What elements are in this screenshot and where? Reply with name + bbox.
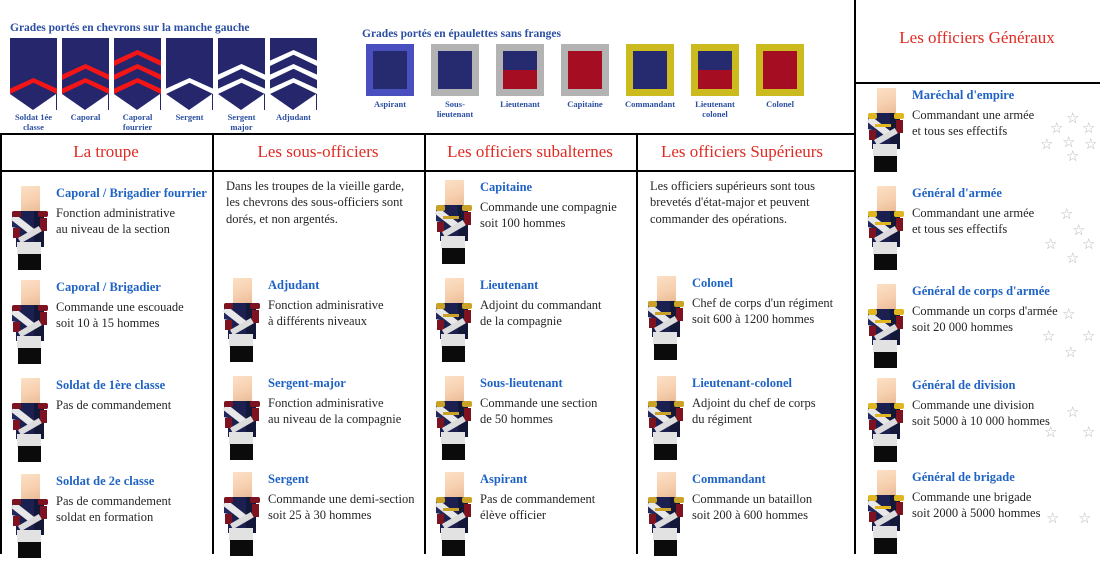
- rank-name: Commandant: [692, 472, 812, 487]
- patch-notch: [114, 94, 160, 110]
- boots: [18, 348, 41, 364]
- epaulette-left: [648, 301, 657, 307]
- chevron-label: Sergent major: [218, 113, 265, 132]
- soldier-figure: [10, 280, 50, 366]
- rank-entry[interactable]: Lieutenant-colonelAdjoint du chef de cor…: [646, 376, 842, 462]
- chevron-patch: [114, 38, 161, 110]
- soldier-figure: [646, 276, 686, 362]
- epaulette-right: [38, 211, 48, 217]
- chevron-item-0: Soldat 1ée classe: [10, 38, 57, 132]
- chevron-item-5: Adjudant: [270, 38, 317, 123]
- star-icon: ☆: [1082, 330, 1095, 345]
- chevron-patch: [166, 38, 213, 110]
- rule-under-head: [0, 170, 856, 172]
- shako: [877, 378, 896, 405]
- rank-name: Soldat de 2e classe: [56, 474, 171, 489]
- general-name: Maréchal d'empire: [912, 88, 1034, 103]
- rank-text: Soldat de 2e classePas de commandement s…: [56, 474, 171, 525]
- general-name: Général de corps d'armée: [912, 284, 1058, 299]
- infographic-root: Grades portés en chevrons sur la manche …: [0, 0, 1100, 561]
- rank-name: Caporal / Brigadier: [56, 280, 184, 295]
- rank-text: Sergent-majorFonction adminisrative au n…: [268, 376, 401, 427]
- epaulette-right: [894, 211, 904, 217]
- chevron-label: Sergent: [166, 113, 213, 123]
- rank-name: Soldat de 1ère classe: [56, 378, 171, 393]
- general-desc: Commandant une armée et tous ses effecti…: [912, 205, 1034, 237]
- epaulette-right: [250, 497, 260, 503]
- boots: [874, 446, 897, 462]
- soldier-figure: [222, 278, 262, 364]
- general-stars: ☆☆: [1040, 496, 1100, 556]
- patch-notch: [166, 94, 212, 110]
- lace: [875, 414, 891, 417]
- shako: [445, 376, 464, 403]
- rank-text: Soldat de 1ère classePas de commandement: [56, 378, 171, 413]
- soldier-figure: [434, 278, 474, 364]
- boots: [442, 248, 465, 264]
- rank-entry[interactable]: Caporal / Brigadier fourrierFonction adm…: [10, 186, 206, 272]
- boots: [874, 352, 897, 368]
- soldier-figure: [646, 472, 686, 558]
- general-stars: ☆☆☆☆: [1032, 304, 1096, 364]
- soldier-figure: [10, 474, 50, 560]
- rank-desc: Fonction adminisrative à différents nive…: [268, 297, 384, 329]
- lace: [19, 414, 35, 417]
- shako: [233, 472, 252, 499]
- epaulette-right: [674, 301, 684, 307]
- epaulette-item-6: Colonel: [752, 44, 808, 110]
- chevron-patch: [10, 38, 57, 110]
- generals-header: Les officiers Généraux: [854, 28, 1100, 48]
- column-header-1: Les sous-officiers: [212, 142, 424, 162]
- rank-name: Lieutenant: [480, 278, 602, 293]
- epaulette-label: Aspirant: [362, 100, 418, 110]
- chevron-patch: [62, 38, 109, 110]
- boots: [874, 156, 897, 172]
- shako: [657, 276, 676, 303]
- lace: [443, 508, 459, 511]
- epaulette-left: [868, 211, 877, 217]
- boots: [442, 444, 465, 460]
- rank-name: Capitaine: [480, 180, 617, 195]
- lace: [443, 216, 459, 219]
- general-stars: ☆☆☆☆☆☆☆: [1032, 108, 1096, 168]
- chevron-label: Caporal fourrier: [114, 113, 161, 132]
- boots: [230, 346, 253, 362]
- epaulette-item-1: Sous-lieutenant: [427, 44, 483, 119]
- star-icon: ☆: [1066, 150, 1079, 165]
- rank-desc: Commande une escouade soit 10 à 15 homme…: [56, 299, 184, 331]
- star-icon: ☆: [1084, 138, 1097, 153]
- epaulette-left: [648, 497, 657, 503]
- epaulette-left: [648, 401, 657, 407]
- epaulette-right: [250, 303, 260, 309]
- rank-entry[interactable]: Soldat de 1ère classePas de commandement: [10, 378, 206, 464]
- star-icon: ☆: [1046, 512, 1059, 527]
- general-stars: ☆☆☆: [1040, 404, 1100, 464]
- boots: [654, 540, 677, 556]
- lace: [875, 124, 891, 127]
- chevron-item-2: Caporal fourrier: [114, 38, 161, 132]
- epaulette-left: [436, 303, 445, 309]
- rank-entry[interactable]: Soldat de 2e classePas de commandement s…: [10, 474, 206, 560]
- shako: [21, 280, 40, 307]
- rule-col2: [424, 133, 426, 554]
- epaulette-left: [868, 113, 877, 119]
- epaulette-patch: [626, 44, 674, 96]
- soldier-figure: [866, 88, 906, 174]
- lace: [875, 506, 891, 509]
- general-stars: ☆☆☆☆☆: [1032, 206, 1096, 266]
- rule-left: [0, 133, 2, 554]
- lace: [231, 412, 247, 415]
- rule-col3: [636, 133, 638, 554]
- shako: [21, 186, 40, 213]
- epaulette-right: [462, 401, 472, 407]
- rank-entry[interactable]: CapitaineCommande une compagnie soit 100…: [434, 180, 630, 266]
- star-icon: ☆: [1082, 426, 1095, 441]
- epaulette-left: [12, 499, 21, 505]
- epaulette-right: [38, 403, 48, 409]
- rank-entry[interactable]: Caporal / BrigadierCommande une escouade…: [10, 280, 206, 366]
- chevron-patch: [270, 38, 317, 110]
- epaulette-right: [250, 401, 260, 407]
- chevron-patch: [218, 38, 265, 110]
- star-icon: ☆: [1062, 308, 1075, 323]
- epaulette-left: [868, 403, 877, 409]
- chevron-stripe: [10, 78, 57, 95]
- lace: [655, 412, 671, 415]
- epaulette-right: [462, 205, 472, 211]
- epaulette-label: Lieutenant: [492, 100, 548, 110]
- lace: [19, 316, 35, 319]
- epaulette-left: [224, 401, 233, 407]
- general-name: Général de brigade: [912, 470, 1040, 485]
- rank-entry[interactable]: CommandantCommande un bataillon soit 200…: [646, 472, 842, 558]
- soldier-figure: [434, 180, 474, 266]
- star-icon: ☆: [1044, 426, 1057, 441]
- rank-text: CommandantCommande un bataillon soit 200…: [692, 472, 812, 523]
- rank-desc: Fonction administrative au niveau de la …: [56, 205, 207, 237]
- chevron-stripe: [270, 50, 317, 67]
- lace: [875, 222, 891, 225]
- general-desc: Commandant une armée et tous ses effecti…: [912, 107, 1034, 139]
- soldier-figure: [434, 472, 474, 558]
- epaulette-label: Commandant: [622, 100, 678, 110]
- soldier-figure: [866, 284, 906, 370]
- lace: [443, 314, 459, 317]
- rank-entry[interactable]: ColonelChef de corps d'un régiment soit …: [646, 276, 842, 362]
- rank-text: AdjudantFonction adminisrative à différe…: [268, 278, 384, 329]
- boots: [654, 444, 677, 460]
- boots: [18, 254, 41, 270]
- chevron-label: Adjudant: [270, 113, 317, 123]
- epaulette-row: AspirantSous-lieutenantLieutenantCapitai…: [362, 44, 817, 119]
- general-desc: Commande une division soit 5000 à 10 000…: [912, 397, 1050, 429]
- boots: [18, 542, 41, 558]
- soldier-figure: [646, 376, 686, 462]
- lace: [19, 510, 35, 513]
- epaulette-item-3: Capitaine: [557, 44, 613, 110]
- patch-notch: [218, 94, 264, 110]
- patch-notch: [270, 94, 316, 110]
- lace: [443, 412, 459, 415]
- star-icon: ☆: [1040, 138, 1053, 153]
- chevron-item-3: Sergent: [166, 38, 213, 123]
- rank-name: Lieutenant-colonel: [692, 376, 816, 391]
- column-note-3: Les officiers supérieurs sont tous breve…: [650, 178, 838, 227]
- patch-notch: [10, 94, 56, 110]
- general-name: Général de division: [912, 378, 1050, 393]
- general-text: Maréchal d'empireCommandant une armée et…: [912, 88, 1034, 139]
- epaulette-right: [462, 303, 472, 309]
- rule-top: [0, 133, 856, 135]
- rank-entry[interactable]: SergentCommande une demi-section soit 25…: [222, 472, 418, 558]
- epaulette-right: [894, 309, 904, 315]
- epaulette-label: Lieutenant colonel: [687, 100, 743, 119]
- rank-entry[interactable]: AdjudantFonction adminisrative à différe…: [222, 278, 418, 364]
- epaulette-left: [436, 401, 445, 407]
- epaulette-left: [868, 495, 877, 501]
- rank-desc: Fonction adminisrative au niveau de la c…: [268, 395, 401, 427]
- rank-desc: Adjoint du commandant de la compagnie: [480, 297, 602, 329]
- epaulette-patch: [756, 44, 804, 96]
- column-header-3: Les officiers Supérieurs: [636, 142, 848, 162]
- star-icon: ☆: [1078, 512, 1091, 527]
- epaulette-right: [38, 305, 48, 311]
- column-header-0: La troupe: [0, 142, 212, 162]
- general-desc: Commande une brigade soit 2000 à 5000 ho…: [912, 489, 1040, 521]
- rank-desc: Adjoint du chef de corps du régiment: [692, 395, 816, 427]
- column-note-1: Dans les troupes de la vieille garde, le…: [226, 178, 414, 227]
- rank-desc: Commande une section de 50 hommes: [480, 395, 597, 427]
- shako: [21, 378, 40, 405]
- rank-text: SergentCommande une demi-section soit 25…: [268, 472, 415, 523]
- rank-text: LieutenantAdjoint du commandant de la co…: [480, 278, 602, 329]
- lace: [231, 314, 247, 317]
- rank-desc: Chef de corps d'un régiment soit 600 à 1…: [692, 295, 833, 327]
- rank-text: Lieutenant-colonelAdjoint du chef de cor…: [692, 376, 816, 427]
- chevron-panel-title: Grades portés en chevrons sur la manche …: [10, 22, 322, 34]
- shako: [21, 474, 40, 501]
- shako: [657, 472, 676, 499]
- soldier-figure: [222, 472, 262, 558]
- epaulette-item-0: Aspirant: [362, 44, 418, 110]
- chevron-label: Soldat 1ée classe: [10, 113, 57, 132]
- shako: [233, 278, 252, 305]
- chevron-row: Soldat 1ée classeCaporalCaporal fourrier…: [10, 38, 322, 132]
- chevron-stripe: [114, 50, 161, 67]
- patch-notch: [62, 94, 108, 110]
- epaulette-item-4: Commandant: [622, 44, 678, 110]
- general-text: Général de brigadeCommande une brigade s…: [912, 470, 1040, 521]
- rank-entry[interactable]: Sergent-majorFonction adminisrative au n…: [222, 376, 418, 462]
- chevron-stripe: [218, 64, 265, 81]
- rank-desc: Commande un bataillon soit 200 à 600 hom…: [692, 491, 812, 523]
- epaulette-right: [894, 113, 904, 119]
- shako: [445, 278, 464, 305]
- epaulette-left: [224, 303, 233, 309]
- epaulette-left: [12, 305, 21, 311]
- shako: [877, 470, 896, 497]
- epaulette-item-5: Lieutenant colonel: [687, 44, 743, 119]
- epaulette-right: [894, 403, 904, 409]
- boots: [654, 344, 677, 360]
- epaulette-left: [868, 309, 877, 315]
- epaulette-patch: [366, 44, 414, 96]
- chevron-item-1: Caporal: [62, 38, 109, 123]
- chevron-stripe: [166, 78, 213, 95]
- rank-name: Colonel: [692, 276, 833, 291]
- rank-name: Sous-lieutenant: [480, 376, 597, 391]
- star-icon: ☆: [1044, 238, 1057, 253]
- shako: [445, 180, 464, 207]
- general-name: Général d'armée: [912, 186, 1034, 201]
- chevron-label: Caporal: [62, 113, 109, 123]
- epaulette-left: [12, 211, 21, 217]
- epaulette-patch: [496, 44, 544, 96]
- boots: [230, 444, 253, 460]
- epaulette-patch: [561, 44, 609, 96]
- epaulette-label: Capitaine: [557, 100, 613, 110]
- shako: [877, 88, 896, 115]
- epaulette-patch: [431, 44, 479, 96]
- soldier-figure: [434, 376, 474, 462]
- star-icon: ☆: [1066, 406, 1079, 421]
- boots: [230, 540, 253, 556]
- rank-desc: Pas de commandement: [56, 397, 171, 413]
- rank-desc: Pas de commandement élève officier: [480, 491, 595, 523]
- rank-desc: Pas de commandement soldat en formation: [56, 493, 171, 525]
- rank-entry[interactable]: Sous-lieutenantCommande une section de 5…: [434, 376, 630, 462]
- rank-name: Sergent: [268, 472, 415, 487]
- chevron-item-4: Sergent major: [218, 38, 265, 132]
- chevron-panel: Grades portés en chevrons sur la manche …: [10, 22, 322, 132]
- star-icon: ☆: [1066, 252, 1079, 267]
- star-icon: ☆: [1082, 122, 1095, 137]
- shako: [657, 376, 676, 403]
- star-icon: ☆: [1042, 330, 1055, 345]
- lace: [655, 312, 671, 315]
- star-icon: ☆: [1082, 238, 1095, 253]
- epaulette-panel: Grades portés en épaulettes sans franges…: [362, 28, 817, 119]
- epaulette-left: [436, 205, 445, 211]
- rank-text: Caporal / Brigadier fourrierFonction adm…: [56, 186, 207, 237]
- epaulette-patch: [691, 44, 739, 96]
- rank-desc: Commande une demi-section soit 25 à 30 h…: [268, 491, 415, 523]
- star-icon: ☆: [1066, 112, 1079, 127]
- soldier-figure: [222, 376, 262, 462]
- shako: [233, 376, 252, 403]
- rank-name: Adjudant: [268, 278, 384, 293]
- rank-name: Sergent-major: [268, 376, 401, 391]
- rank-text: CapitaineCommande une compagnie soit 100…: [480, 180, 617, 231]
- epaulette-right: [462, 497, 472, 503]
- column-header-2: Les officiers subalternes: [424, 142, 636, 162]
- epaulette-label: Colonel: [752, 100, 808, 110]
- shako: [877, 186, 896, 213]
- general-text: Général d'arméeCommandant une armée et t…: [912, 186, 1034, 237]
- rank-name: Aspirant: [480, 472, 595, 487]
- boots: [874, 538, 897, 554]
- general-text: Général de divisionCommande une division…: [912, 378, 1050, 429]
- shako: [445, 472, 464, 499]
- epaulette-item-2: Lieutenant: [492, 44, 548, 110]
- rank-desc: Commande une compagnie soit 100 hommes: [480, 199, 617, 231]
- rank-text: ColonelChef de corps d'un régiment soit …: [692, 276, 833, 327]
- rank-text: Caporal / BrigadierCommande une escouade…: [56, 280, 184, 331]
- rule-col1: [212, 133, 214, 554]
- epaulette-right: [674, 401, 684, 407]
- rank-name: Caporal / Brigadier fourrier: [56, 186, 207, 201]
- chevron-stripe: [62, 64, 109, 81]
- soldier-figure: [866, 186, 906, 272]
- rank-text: AspirantPas de commandement élève offici…: [480, 472, 595, 523]
- soldier-figure: [866, 378, 906, 464]
- lace: [875, 320, 891, 323]
- star-icon: ☆: [1064, 346, 1077, 361]
- star-icon: ☆: [1060, 208, 1073, 223]
- rank-text: Sous-lieutenantCommande une section de 5…: [480, 376, 597, 427]
- rule-generals-top: [854, 82, 1100, 84]
- epaulette-left: [436, 497, 445, 503]
- epaulette-right: [894, 495, 904, 501]
- boots: [442, 540, 465, 556]
- rank-entry[interactable]: LieutenantAdjoint du commandant de la co…: [434, 278, 630, 364]
- epaulette-right: [674, 497, 684, 503]
- soldier-figure: [10, 186, 50, 272]
- epaulette-left: [224, 497, 233, 503]
- boots: [874, 254, 897, 270]
- epaulette-panel-title: Grades portés en épaulettes sans franges: [362, 28, 817, 40]
- epaulette-left: [12, 403, 21, 409]
- boots: [442, 346, 465, 362]
- lace: [655, 508, 671, 511]
- boots: [18, 446, 41, 462]
- soldier-figure: [10, 378, 50, 464]
- shako: [877, 284, 896, 311]
- epaulette-right: [38, 499, 48, 505]
- lace: [231, 508, 247, 511]
- rank-entry[interactable]: AspirantPas de commandement élève offici…: [434, 472, 630, 558]
- soldier-figure: [866, 470, 906, 556]
- lace: [19, 222, 35, 225]
- epaulette-label: Sous-lieutenant: [427, 100, 483, 119]
